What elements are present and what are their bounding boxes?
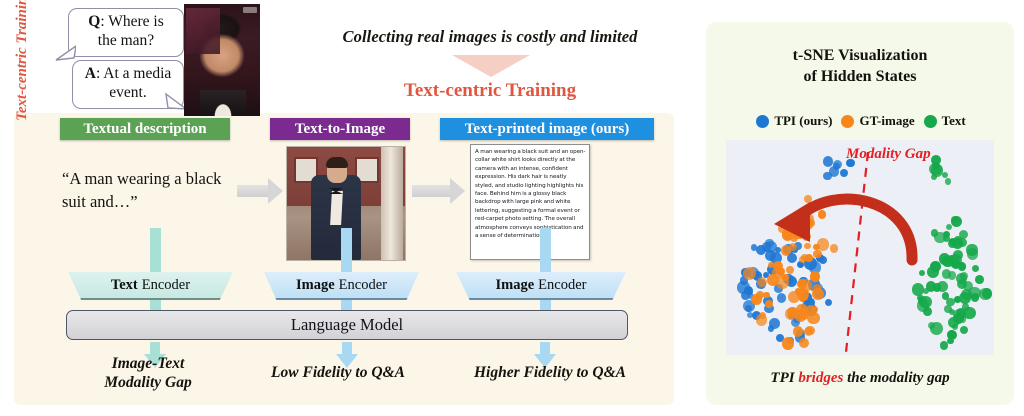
arrow-head [268, 178, 283, 204]
image-encoder-block-1: ImageEncoder [264, 272, 419, 300]
legend-item-gt-image: GT-image [841, 113, 914, 129]
modality-gap-label: Modality Gap [846, 146, 931, 163]
connector-bar-image-encoder-2 [540, 228, 551, 274]
outcome-caption-higher-fidelity: Higher Fidelity to Q&A [450, 364, 650, 383]
down-arrow-icon [452, 55, 530, 77]
tsne-caption-post: the modality gap [843, 370, 949, 386]
vertical-section-label: Text-centric Training [14, 0, 31, 150]
legend-dot-gt-image [841, 115, 854, 128]
image-encoder-strong-1: Image [296, 277, 335, 294]
image-encoder-rest-2: Encoder [538, 277, 586, 294]
connector-bar-image-encoder-1 [341, 228, 352, 274]
answer-prefix: A [85, 65, 96, 82]
tsne-legend: TPI (ours) GT-image Text [716, 113, 1006, 129]
generated-person-hair [326, 157, 348, 168]
photo-backdrop-letters [186, 8, 220, 54]
column-badge-text-printed-image: Text-printed image (ours) [440, 118, 654, 140]
legend-label-gt-image: GT-image [859, 113, 914, 129]
tsne-caption-pre: TPI [770, 370, 798, 386]
language-model-label: Language Model [291, 315, 403, 335]
tsne-scatter-plot [726, 140, 994, 355]
text-encoder-block: TextEncoder [68, 272, 233, 300]
column-badge-textual-description: Textual description [60, 118, 230, 140]
arrow-right-icon-1 [237, 178, 283, 204]
ground-truth-photo [184, 4, 260, 116]
outcome-caption-low-fidelity: Low Fidelity to Q&A [252, 364, 424, 383]
text-encoder-rest: Encoder [142, 277, 190, 294]
question-speech-bubble: Q: Where is the man? [68, 8, 184, 57]
image-encoder-strong-2: Image [496, 277, 535, 294]
section-title: Text-centric Training [290, 80, 690, 102]
legend-item-text: Text [924, 113, 966, 129]
tsne-caption-highlight: bridges [798, 370, 843, 386]
tsne-title-line1: t-SNE Visualization [706, 45, 1014, 66]
outcome-caption-modality-gap: Image-Text Modality Gap [82, 355, 214, 393]
legend-label-text: Text [942, 113, 966, 129]
question-text: : Where is the man? [98, 13, 164, 49]
arrow-shaft [412, 185, 451, 197]
photo-shirt [200, 90, 246, 116]
legend-label-tpi: TPI (ours) [774, 113, 832, 129]
photo-logo-mark [243, 7, 257, 13]
tsne-caption: TPI bridges the modality gap [706, 370, 1014, 387]
legend-item-tpi: TPI (ours) [756, 113, 832, 129]
arrow-shaft [237, 185, 269, 197]
image-encoder-block-2: ImageEncoder [456, 272, 626, 300]
legend-dot-text [924, 115, 937, 128]
answer-text: : At a media event. [96, 65, 171, 101]
generated-column [381, 147, 403, 260]
arrow-head [450, 178, 465, 204]
text-printed-image-content: A man wearing a black suit and an open-c… [471, 145, 589, 240]
text-encoder-strong: Text [111, 277, 138, 294]
generated-person-shirt [330, 191, 343, 225]
language-model-block: Language Model [66, 310, 628, 340]
image-encoder-rest-1: Encoder [339, 277, 387, 294]
tsne-title: t-SNE Visualization of Hidden States [706, 45, 1014, 88]
legend-dot-tpi [756, 115, 769, 128]
question-prefix: Q [88, 13, 100, 30]
textual-description-quote: “A man wearing a black suit and…” [62, 168, 234, 214]
headline-text: Collecting real images is costly and lim… [290, 27, 690, 47]
connector-bar-text-encoder [150, 228, 161, 274]
bridging-arrow-icon [726, 140, 994, 355]
text-printed-image: A man wearing a black suit and an open-c… [470, 144, 590, 260]
column-badge-text-to-image: Text-to-Image [270, 118, 410, 140]
tsne-title-line2: of Hidden States [706, 66, 1014, 87]
question-bubble-tail [54, 44, 76, 62]
arrow-right-icon-2 [412, 178, 466, 204]
